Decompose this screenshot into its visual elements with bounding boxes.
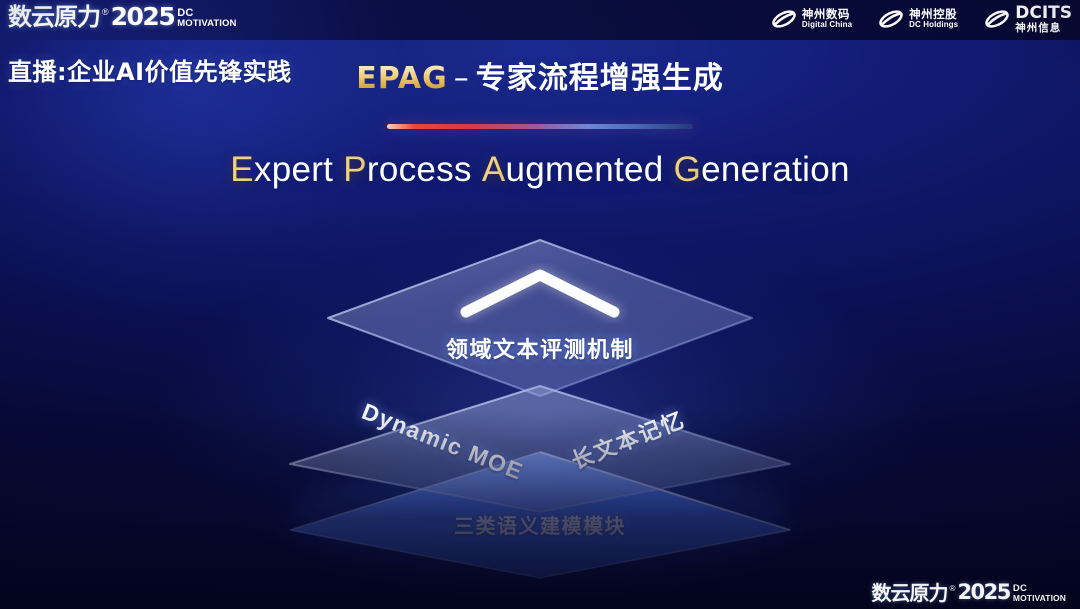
- brand-dc-label: DC: [177, 8, 236, 19]
- watermark-name-cn: 数云原力: [872, 583, 948, 603]
- subtitle-rest-a: ugmented: [505, 150, 663, 189]
- subtitle-cap-e: E: [230, 150, 254, 189]
- subtitle-cap-g: G: [674, 150, 702, 189]
- chevron-up-icon: [466, 275, 614, 312]
- title-divider: [387, 124, 693, 129]
- bottom-fade-overlay: [0, 409, 1080, 609]
- layer-top: [328, 240, 752, 396]
- partner-name-en: Digital China: [802, 21, 852, 30]
- brand-motivation-label: MOTIVATION: [177, 19, 236, 29]
- slide-stage: 数云原力 ® 2025 DC MOTIVATION 直播:企业AI价值先锋实践 …: [0, 0, 1080, 609]
- partner-name-en: 神州信息: [1015, 23, 1072, 35]
- subtitle-rest-g: eneration: [701, 150, 850, 189]
- registered-mark-icon: ®: [102, 8, 109, 17]
- title-chinese: 专家流程增强生成: [476, 61, 724, 96]
- partner-logo-dc-holdings: 神州控股 DC Holdings: [878, 7, 958, 31]
- layer-top-edge: [328, 240, 752, 396]
- partner-logo-digital-china: 神州数码 Digital China: [771, 7, 852, 31]
- swoosh-logo-icon: [771, 7, 797, 31]
- title-dash: –: [448, 61, 476, 96]
- partner-logo-text: 神州控股 DC Holdings: [909, 8, 958, 30]
- brand-name-cn: 数云原力: [8, 5, 100, 29]
- partner-name-cn: DCITS: [1015, 4, 1072, 23]
- layer-middle-caption-left: Dynamic MOE: [358, 398, 527, 486]
- subtitle-rest-p: rocess: [367, 150, 472, 189]
- brand-year: 2025: [111, 4, 175, 29]
- subtitle-rest-e: xpert: [254, 150, 333, 189]
- partner-logo-text: DCITS 神州信息: [1015, 4, 1072, 35]
- partner-logo-dcits: DCITS 神州信息: [984, 4, 1072, 35]
- layer-bottom-caption: 三类语义建模模块: [0, 510, 1080, 539]
- layer-middle-caption-right: 长文本记忆: [566, 402, 689, 476]
- watermark-motivation-label: MOTIVATION: [1013, 594, 1066, 603]
- subtitle-cap-a: A: [482, 150, 506, 189]
- title-acronym: EPAG: [356, 61, 448, 96]
- brand-lockup-top-left: 数云原力 ® 2025 DC MOTIVATION: [8, 4, 236, 29]
- brand-dc-motivation: DC MOTIVATION: [177, 8, 236, 29]
- partner-logo-text: 神州数码 Digital China: [802, 8, 852, 30]
- partner-logo-group: 神州数码 Digital China 神州控股 DC Holdings: [771, 4, 1072, 35]
- page-title: EPAG–专家流程增强生成: [0, 53, 1080, 97]
- swoosh-logo-icon: [984, 7, 1010, 31]
- layer-top-plate: [328, 240, 752, 396]
- brand-watermark-bottom-right: 数云原力 ® 2025 DC MOTIVATION: [872, 582, 1066, 603]
- swoosh-logo-icon: [878, 7, 904, 31]
- watermark-dc-motivation: DC MOTIVATION: [1013, 584, 1066, 602]
- background-glow-center: [160, 240, 920, 600]
- page-subtitle: Expert Process Augmented Generation: [0, 150, 1080, 190]
- partner-name-en: DC Holdings: [909, 21, 958, 30]
- watermark-registered-mark-icon: ®: [950, 585, 956, 593]
- watermark-year: 2025: [957, 582, 1009, 603]
- subtitle-cap-p: P: [343, 150, 367, 189]
- layer-top-caption: 领域文本评测机制: [0, 332, 1080, 364]
